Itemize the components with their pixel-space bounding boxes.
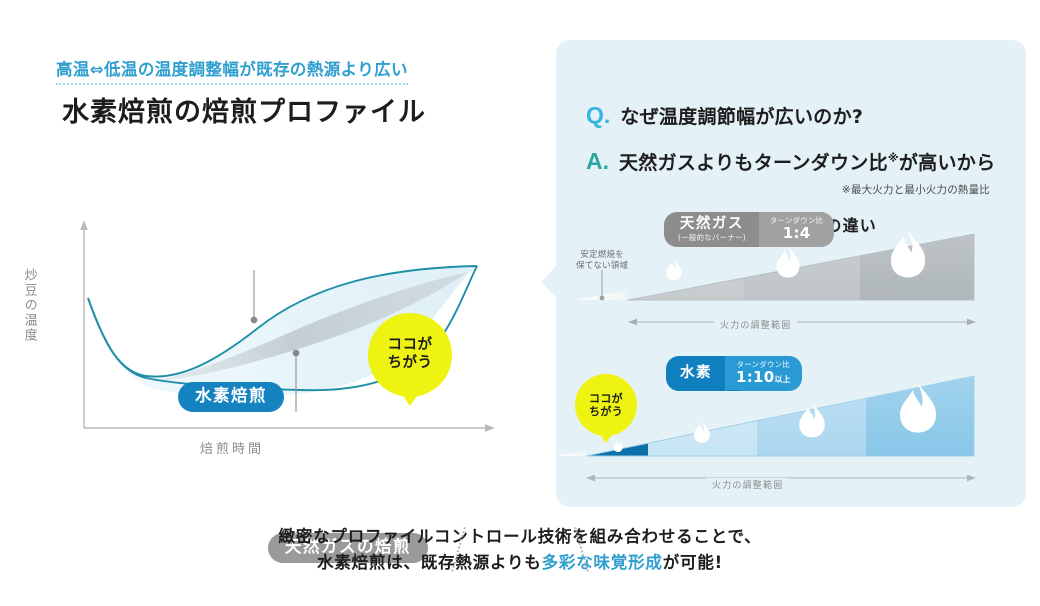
hydrogen-range-label: 火力の調整範囲 — [706, 478, 789, 491]
footer-line-2-after: が可能! — [663, 553, 723, 572]
gas-turndown-label: ターンダウン比 — [770, 217, 824, 225]
chart-svg — [0, 150, 545, 480]
footer-line-1: 緻密なプロファイルコントロール技術を組み合わせることで、 — [279, 527, 762, 546]
explanation-panel: Q. なぜ温度調節幅が広いのか? A. 天然ガスよりもターンダウン比※が高いから… — [556, 40, 1026, 507]
gas-unstable-note-line1: 安定燃焼を — [580, 250, 624, 260]
hydrogen-curve-marker — [251, 317, 258, 324]
hydrogen-tag-left: 水素 — [666, 356, 725, 391]
page-title: 水素焙煎の焙煎プロファイル — [62, 90, 426, 129]
left-column: 高温⇔低温の温度調整幅が既存の熱源より広い 水素焙煎の焙煎プロファイル — [0, 0, 545, 520]
footnote-text: ※最大火力と最小火力の熱量比 — [842, 182, 990, 197]
answer-text-after: が高いから — [899, 152, 996, 174]
qa-answer-row: A. 天然ガスよりもターンダウン比※が高いから — [586, 148, 995, 175]
hydrogen-tag-name: 水素 — [680, 366, 712, 381]
footer-text: 緻密なプロファイルコントロール技術を組み合わせることで、 水素焙煎は、既存熱源よ… — [235, 524, 806, 577]
callout-line-1: ココが — [388, 337, 433, 353]
answer-text: 天然ガスよりもターンダウン比※が高いから — [619, 148, 995, 175]
y-axis-arrow — [80, 220, 88, 230]
callout-bubble-chart: ココが ちがう — [368, 313, 452, 397]
question-text: なぜ温度調節幅が広いのか? — [620, 102, 863, 129]
gas-curve-marker — [293, 350, 300, 357]
gas-unstable-note: 安定燃焼を 保てない領域 — [576, 250, 628, 273]
gas-tag-badge: 天然ガス (一般的なバーナー) ターンダウン比 1:4 — [664, 212, 834, 247]
answer-text-before: 天然ガスよりもターンダウン比 — [619, 152, 888, 174]
answer-footnote-marker: ※ — [888, 152, 899, 165]
gas-tag-name: 天然ガス — [680, 217, 744, 232]
callout-bubble-hydrogen: ココが ちがう — [575, 374, 637, 436]
hydrogen-turndown-suffix: 以上 — [775, 375, 791, 384]
qa-question-row: Q. なぜ温度調節幅が広いのか? — [586, 102, 863, 129]
gas-ramp-diagram: 天然ガス (一般的なバーナー) ターンダウン比 1:4 安定燃焼を 保てない領域… — [556, 208, 1026, 338]
answer-mark-icon: A. — [586, 148, 609, 175]
hydrogen-turndown-label: ターンダウン比 — [736, 361, 790, 369]
gas-tag-sub: (一般的なバーナー) — [678, 234, 746, 242]
gas-unstable-note-line2: 保てない領域 — [576, 261, 628, 271]
hydrogen-tag-right: ターンダウン比 1:10以上 — [725, 356, 802, 391]
gas-tag-right: ターンダウン比 1:4 — [759, 212, 835, 247]
hydrogen-ramp-diagram: 水素 ターンダウン比 1:10以上 ココが ちがう 火力の調整範囲 — [556, 352, 1026, 497]
hydrogen-tip-zone — [556, 450, 586, 456]
hydrogen-callout-line-2: ちがう — [589, 405, 623, 418]
footer-line-2-before: 水素焙煎は、既存熱源よりも — [317, 553, 542, 572]
question-mark-icon: Q. — [586, 102, 610, 129]
hydrogen-callout-line-1: ココが — [589, 392, 623, 405]
callout-line-2: ちがう — [388, 355, 433, 371]
chart-x-axis-label: 焙煎時間 — [200, 438, 264, 457]
footer: 緻密なプロファイルコントロール技術を組み合わせることで、 水素焙煎は、既存熱源よ… — [0, 524, 1040, 577]
gas-range-label: 火力の調整範囲 — [714, 318, 797, 331]
gas-tag-left: 天然ガス (一般的なバーナー) — [664, 212, 759, 247]
subtitle-line: 高温⇔低温の温度調整幅が既存の熱源より広い — [56, 56, 408, 85]
gas-note-pointer-dot — [600, 296, 605, 301]
badge-hydrogen-roast: 水素焙煎 — [178, 382, 284, 412]
hydrogen-turndown-value: 1:10以上 — [736, 370, 791, 385]
hydrogen-turndown-number: 1:10 — [736, 368, 775, 386]
chart-y-axis-label: 炒豆の温度 — [22, 268, 36, 343]
x-axis-arrow — [485, 424, 495, 432]
hydrogen-tag-badge: 水素 ターンダウン比 1:10以上 — [666, 356, 802, 391]
roast-profile-chart: 炒豆の温度 焙煎時間 水素焙煎 天然ガスの焙煎 ココが ちがう — [0, 150, 545, 480]
gas-turndown-value: 1:4 — [783, 226, 811, 241]
